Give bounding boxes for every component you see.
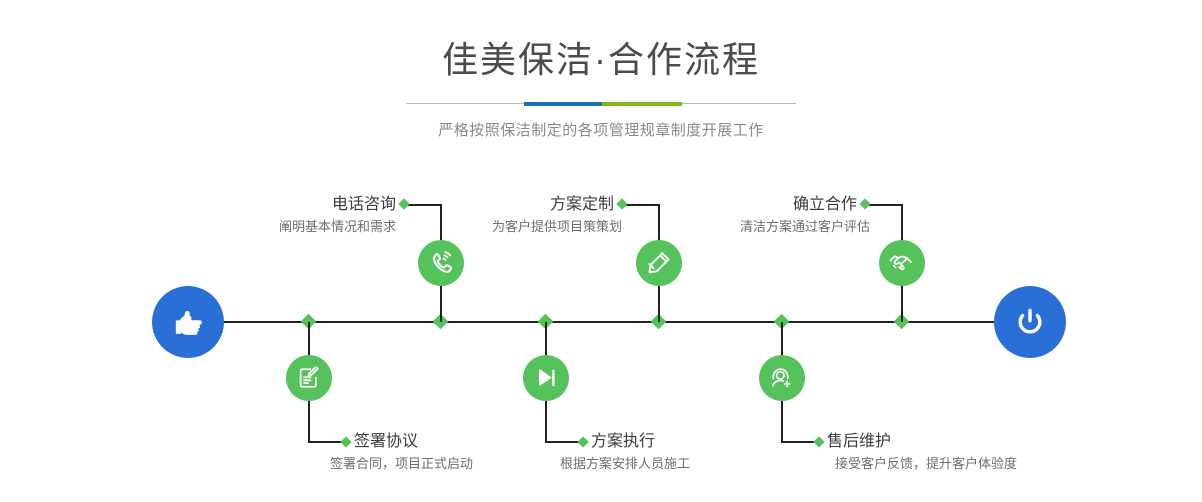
- step-desc-top-2: 为客户提供项目策策划: [492, 220, 622, 233]
- connector-top-3-horizontal: [867, 204, 903, 206]
- label-marker-top-3: [859, 198, 870, 209]
- step-desc-bottom-1: 签署合同，项目正式启动: [330, 457, 473, 470]
- step-desc-top-1: 阐明基本情况和需求: [279, 220, 396, 233]
- step-title-bottom-1: 签署协议: [354, 434, 418, 450]
- handshake-icon: [888, 249, 916, 277]
- step-title-bottom-2: 方案执行: [591, 434, 655, 450]
- connector-top-1-horizontal: [406, 204, 442, 206]
- connector-bottom-3-horizontal: [781, 441, 817, 443]
- step-icon-bottom-3[interactable]: [759, 355, 805, 401]
- power-icon: [1010, 302, 1050, 342]
- step-desc-bottom-3: 接受客户反馈，提升客户体验度: [835, 457, 1017, 470]
- flow-end-node[interactable]: [994, 286, 1066, 358]
- label-marker-bottom-2: [577, 436, 588, 447]
- connector-bottom-2-horizontal: [545, 441, 581, 443]
- play-next-icon: [533, 365, 559, 391]
- label-marker-top-2: [616, 198, 627, 209]
- flow-start-node[interactable]: [152, 286, 224, 358]
- page-title: 佳美保洁·合作流程: [0, 0, 1202, 78]
- headset-support-icon: [769, 365, 795, 391]
- step-icon-top-2[interactable]: [636, 240, 682, 286]
- divider-blue-segment: [524, 102, 602, 106]
- step-icon-bottom-2[interactable]: [523, 355, 569, 401]
- step-title-top-3: 确立合作: [793, 197, 857, 213]
- step-icon-top-3[interactable]: [879, 240, 925, 286]
- step-icon-top-1[interactable]: [418, 240, 464, 286]
- phone-call-icon: [427, 249, 455, 277]
- label-marker-top-1: [398, 198, 409, 209]
- step-title-top-1: 电话咨询: [332, 197, 396, 213]
- header: 佳美保洁·合作流程 严格按照保洁制定的各项管理规章制度开展工作: [0, 0, 1202, 140]
- label-marker-bottom-1: [340, 436, 351, 447]
- title-divider: [406, 102, 796, 106]
- divider-green-segment: [602, 102, 682, 106]
- pencil-ruler-icon: [645, 249, 673, 277]
- step-icon-bottom-1[interactable]: [286, 355, 332, 401]
- label-marker-bottom-3: [813, 436, 824, 447]
- cooperation-flow-infographic: 佳美保洁·合作流程 严格按照保洁制定的各项管理规章制度开展工作: [0, 0, 1202, 502]
- timeline-axis: [152, 321, 1050, 323]
- step-title-top-2: 方案定制: [550, 197, 614, 213]
- document-edit-icon: [296, 365, 322, 391]
- step-desc-bottom-2: 根据方案安排人员施工: [560, 457, 690, 470]
- connector-top-2-horizontal: [624, 204, 660, 206]
- hand-point-right-icon: [168, 302, 208, 342]
- step-desc-top-3: 清洁方案通过客户评估: [740, 220, 870, 233]
- step-title-bottom-3: 售后维护: [827, 434, 891, 450]
- page-subtitle: 严格按照保洁制定的各项管理规章制度开展工作: [0, 119, 1202, 140]
- connector-bottom-1-horizontal: [308, 441, 344, 443]
